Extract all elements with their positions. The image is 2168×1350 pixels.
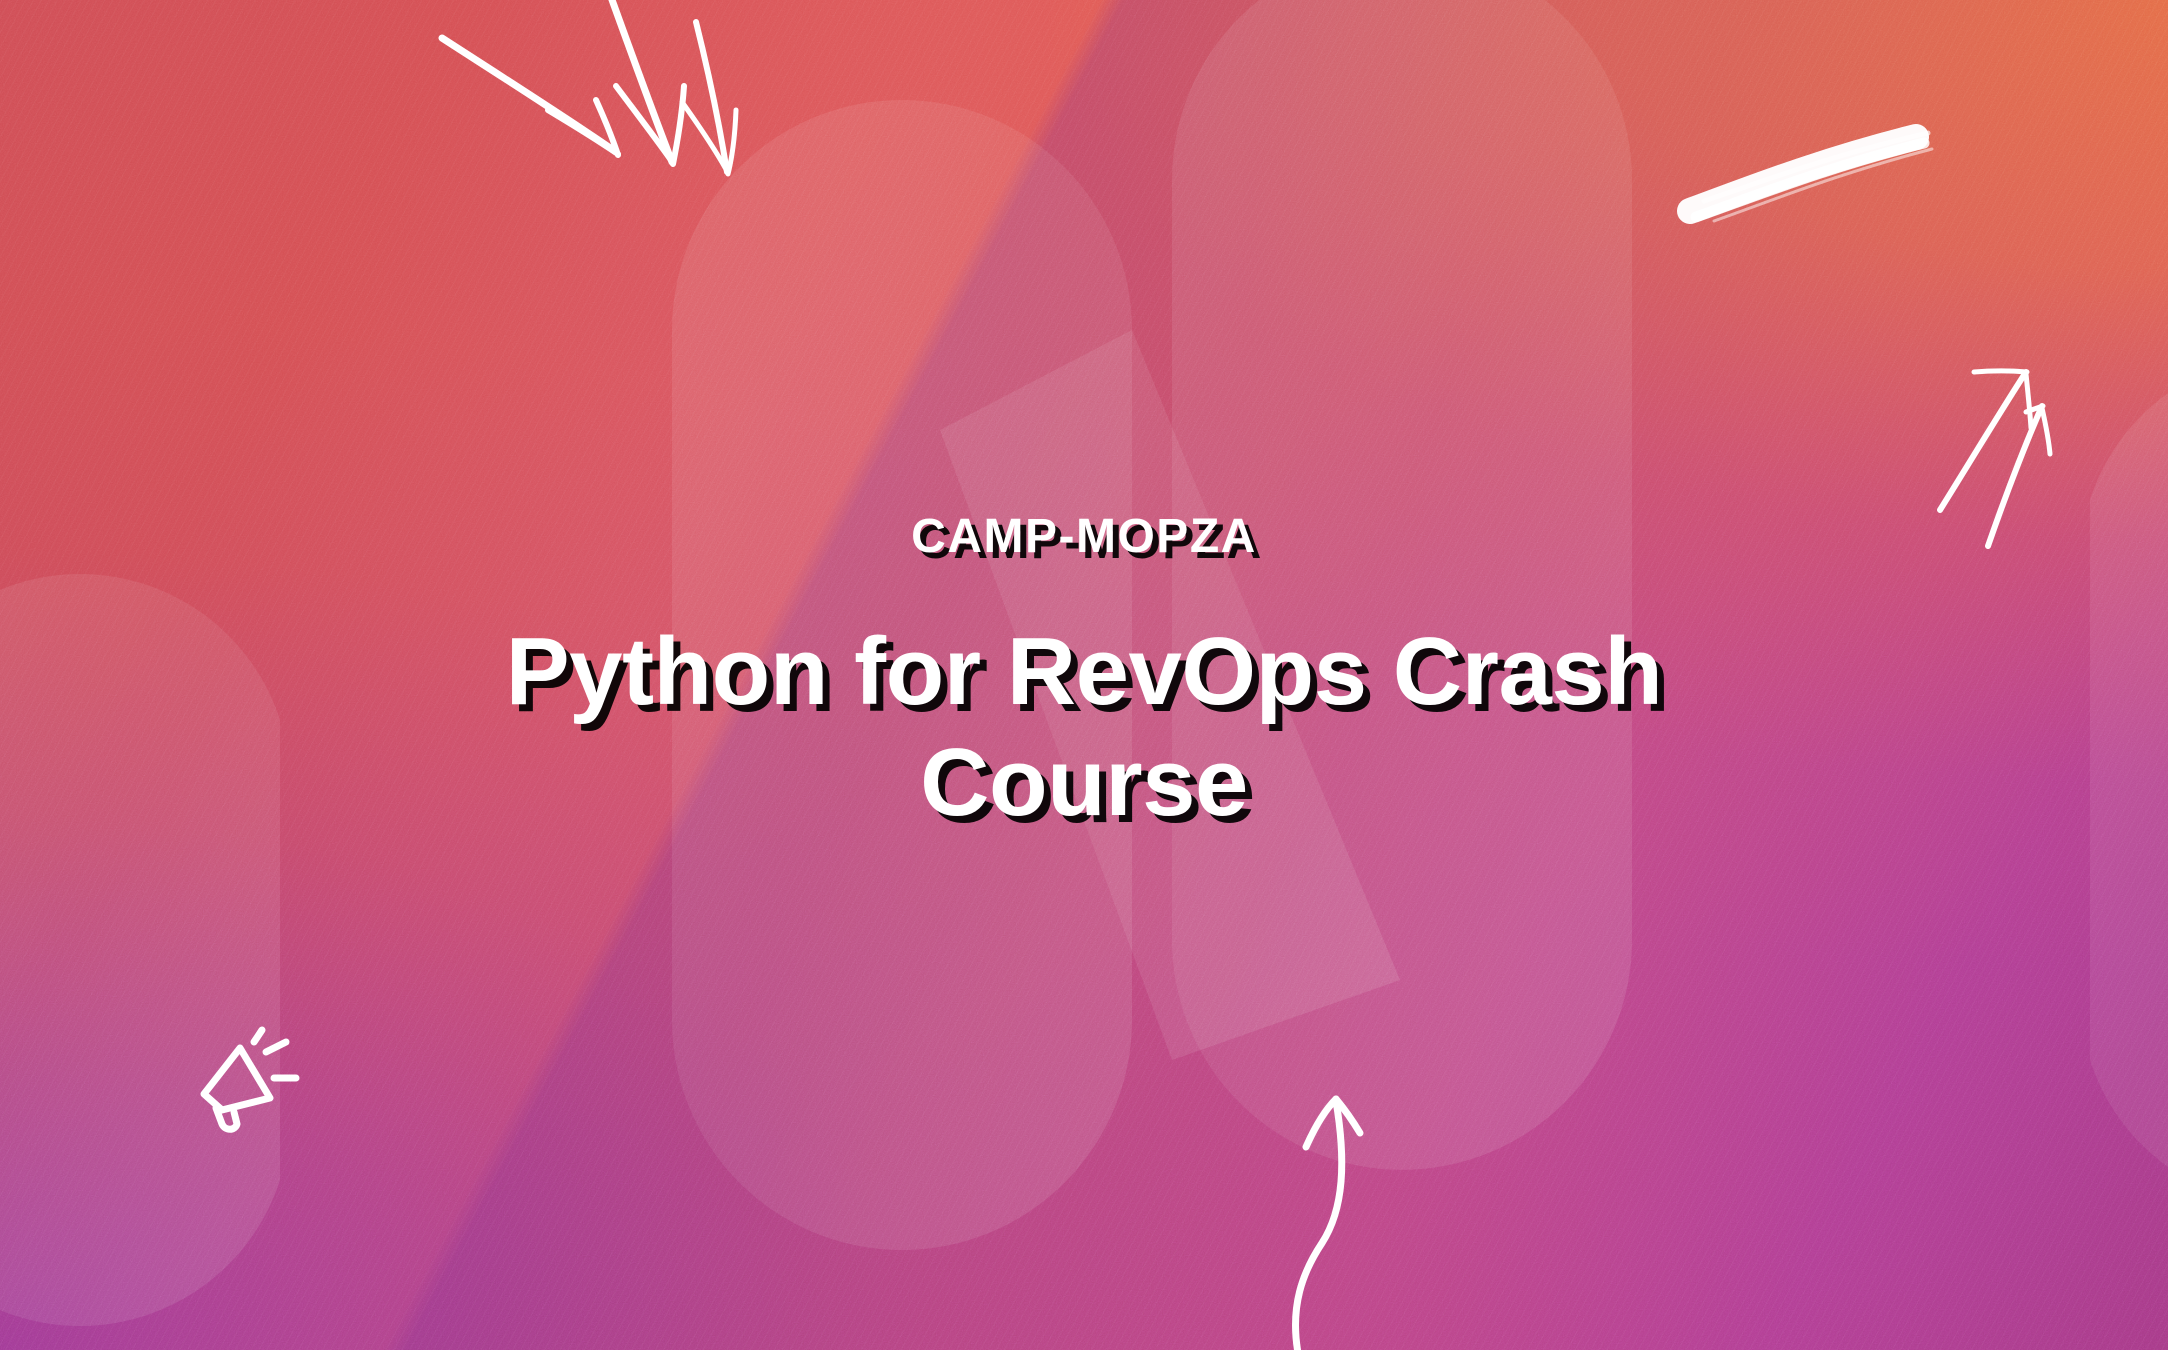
banner-title: Python for RevOps Crash Course	[414, 616, 1754, 839]
banner-eyebrow: CAMP-MOPZA	[911, 511, 1257, 564]
banner-card: CAMP-MOPZA Python for RevOps Crash Cours…	[0, 0, 2168, 1350]
banner-content: CAMP-MOPZA Python for RevOps Crash Cours…	[0, 0, 2168, 1350]
